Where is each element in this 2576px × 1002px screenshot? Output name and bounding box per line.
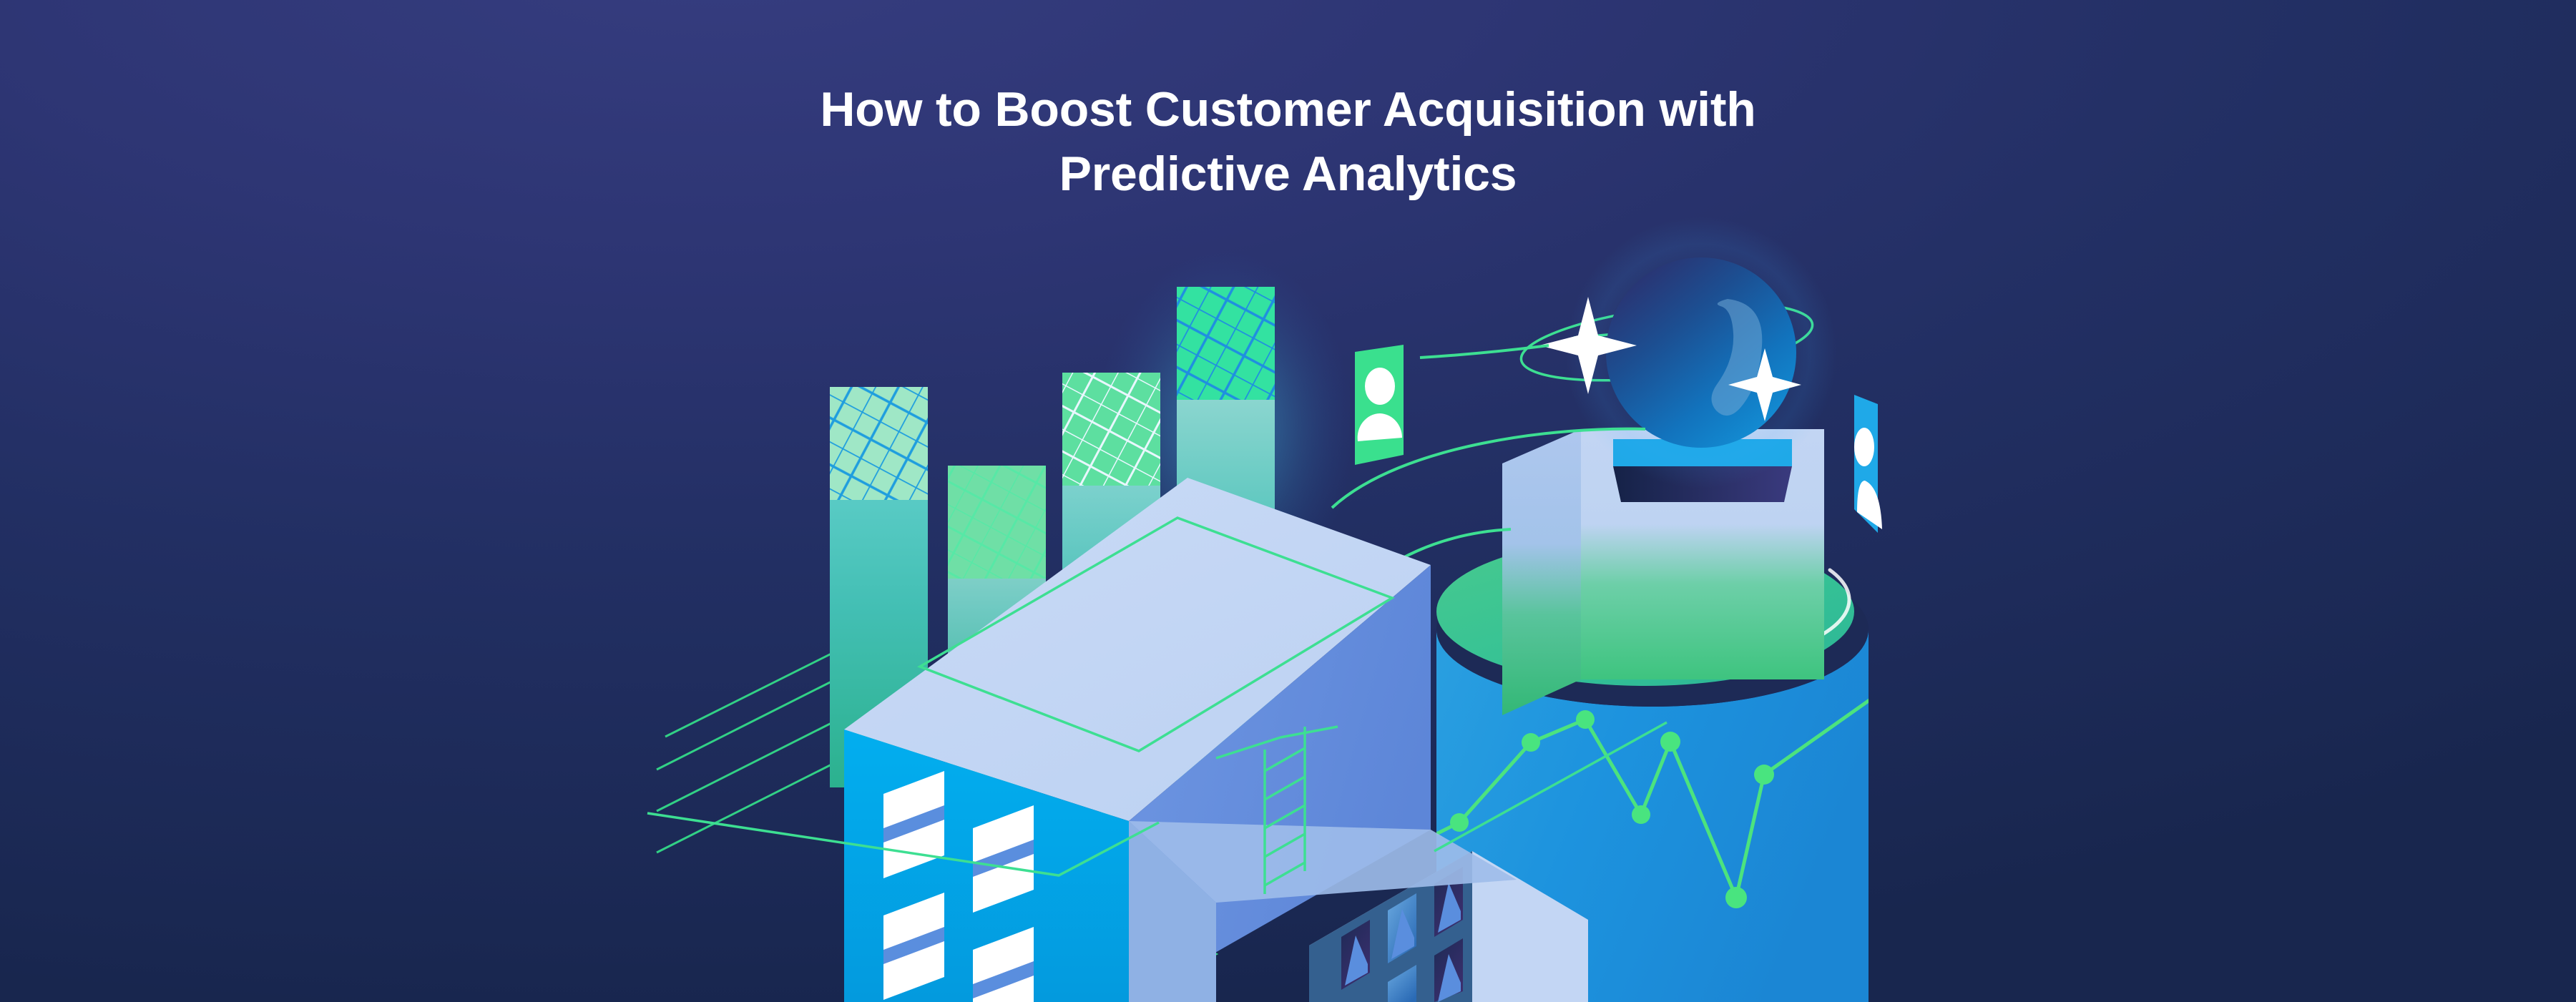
bar-4-hatch-cap — [1177, 287, 1275, 400]
hero-banner: How to Boost Customer Acquisition with P… — [0, 0, 2576, 1002]
bar-1-hatch-cap — [830, 387, 928, 500]
bar-3-hatch-cap — [1062, 373, 1160, 486]
card-green-panel — [1355, 345, 1404, 465]
pedestal-side — [1502, 429, 1581, 715]
bar-2-hatch-cap — [948, 466, 1046, 579]
crystal-ball-sphere — [1606, 257, 1796, 448]
customer-card-green — [1355, 345, 1404, 465]
illustration-canvas — [0, 0, 2576, 1002]
